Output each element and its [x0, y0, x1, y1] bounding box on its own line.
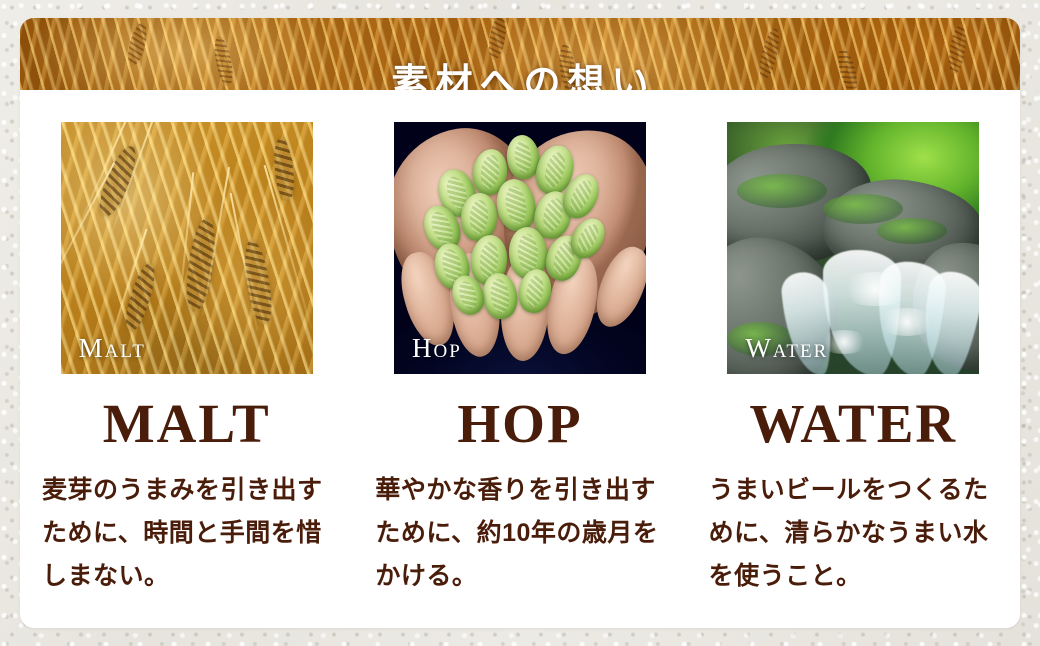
- waterfall-mossy-rocks-photo: Water: [727, 122, 979, 374]
- page-title: 素材への想い: [20, 43, 1020, 90]
- section-header: 素材への想い: [20, 18, 1020, 90]
- ingredient-description-hop: 華やかな香りを引き出すために、約10年の歳月をかける。: [353, 469, 686, 598]
- ingredient-term-malt: MALT: [20, 396, 353, 451]
- hands-illustration: [395, 123, 645, 353]
- ingredient-columns: Malt MALT 麦芽のうまみを引き出すために、時間と手間を惜しまない。: [20, 90, 1020, 628]
- ingredient-description-malt: 麦芽のうまみを引き出すために、時間と手間を惜しまない。: [20, 469, 353, 598]
- photo-caption-hop: Hop: [412, 335, 462, 362]
- content-panel: 素材への想い Malt MALT 麦芽のうまみを引き出す: [20, 18, 1020, 628]
- ingredient-card-malt: Malt MALT 麦芽のうまみを引き出すために、時間と手間を惜しまない。: [20, 90, 353, 628]
- hands-holding-hop-cones-photo: Hop: [394, 122, 646, 374]
- photo-caption-water: Water: [745, 335, 828, 362]
- ingredient-term-water: WATER: [687, 396, 1020, 451]
- ingredient-card-hop: Hop HOP 華やかな香りを引き出すために、約10年の歳月をかける。: [353, 90, 686, 628]
- ingredient-term-hop: HOP: [353, 396, 686, 451]
- photo-caption-malt: Malt: [79, 335, 146, 362]
- ingredient-description-water: うまいビールをつくるために、清らかなうまい水を使うこと。: [687, 469, 1020, 598]
- ingredient-card-water: Water WATER うまいビールをつくるために、清らかなうまい水を使うこと。: [687, 90, 1020, 628]
- barley-field-photo: Malt: [61, 122, 313, 374]
